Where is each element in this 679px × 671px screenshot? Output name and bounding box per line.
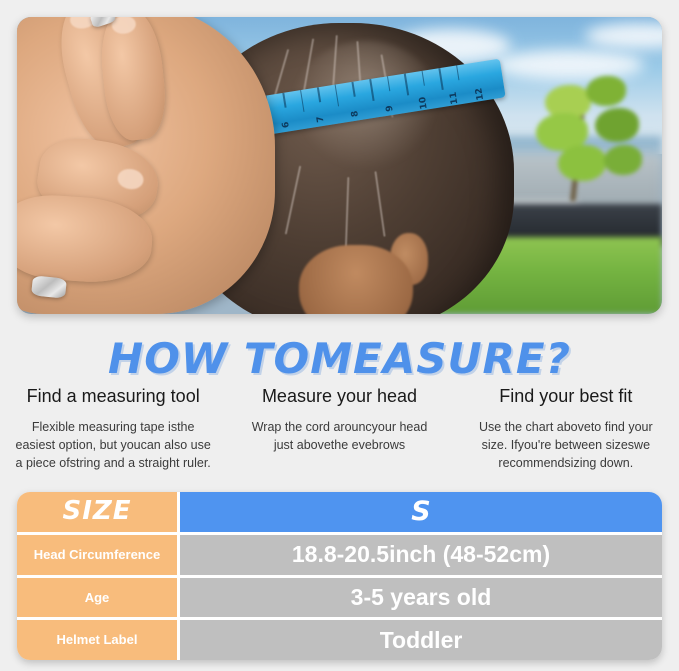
step-find-measuring-tool: Find a measuring tool Flexible measuring… [0,386,226,472]
step-body: Wrap the cord arouncyour head just above… [240,418,438,454]
step-heading: Find a measuring tool [14,386,212,407]
child-face [299,245,413,314]
step-heading: Find your best fit [467,386,665,407]
page-title: HOW TOMEASURE? [0,334,679,383]
table-header-size: SIZE [17,492,177,532]
table-row: Helmet Label Toddler [17,620,662,660]
table-row: Age 3-5 years old [17,578,662,618]
table-header-value: S [180,492,662,532]
step-body: Flexible measuring tape isthe easiest op… [14,418,212,472]
row-label-age: Age [17,578,177,618]
row-label-helmet-label: Helmet Label [17,620,177,660]
step-heading: Measure your head [240,386,438,407]
tape-number: 10 [417,96,429,110]
tape-number: 12 [474,87,486,101]
steps-section: Find a measuring tool Flexible measuring… [0,386,679,472]
tape-number: 11 [448,91,460,105]
row-value-head-circumference: 18.8-20.5inch (48-52cm) [180,535,662,575]
tape-number: 8 [350,110,361,118]
row-value-age: 3-5 years old [180,578,662,618]
measuring-photo: 93 94 3 4 5 6 7 8 9 10 11 12 [17,17,662,314]
tree-leaf [595,108,639,142]
table-row: Head Circumference 18.8-20.5inch (48-52c… [17,535,662,575]
tape-number: 6 [281,121,292,129]
row-label-head-circumference: Head Circumference [17,535,177,575]
step-body: Use the chart aboveto find your size. If… [467,418,665,472]
ring [31,275,67,298]
size-guide-page: 93 94 3 4 5 6 7 8 9 10 11 12 [0,0,679,671]
cloud [494,50,644,80]
row-value-helmet-label: Toddler [180,620,662,660]
tree-leaf [604,145,642,175]
tree-leaf [586,76,626,106]
photo-illustration: 93 94 3 4 5 6 7 8 9 10 11 12 [17,17,662,314]
adult-hand [17,17,275,314]
size-chart-table: SIZE S Head Circumference 18.8-20.5inch … [17,492,662,660]
tape-number: 9 [384,104,395,112]
tape-number: 7 [315,115,326,123]
table-row: SIZE S [17,492,662,532]
step-find-your-best-fit: Find your best fit Use the chart aboveto… [453,386,679,472]
step-measure-your-head: Measure your head Wrap the cord arouncyo… [226,386,452,472]
tree [533,76,662,219]
tree-leaf [558,145,606,181]
